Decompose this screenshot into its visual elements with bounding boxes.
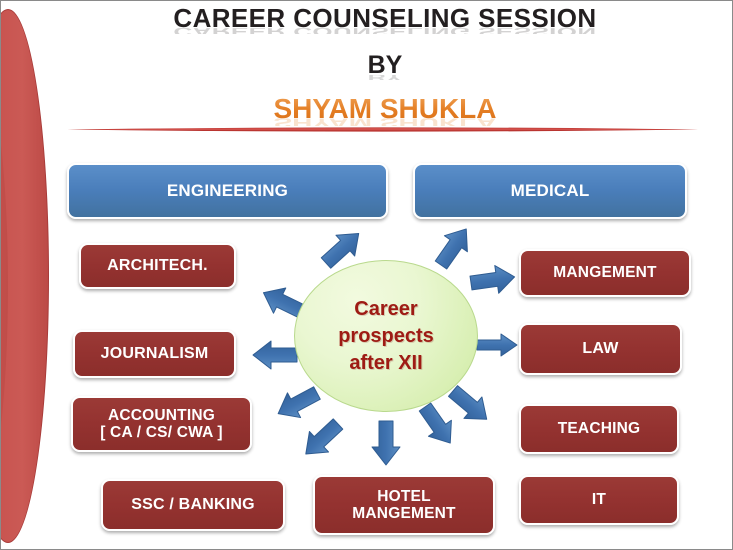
node-it[interactable]: IT: [519, 475, 679, 525]
node-hotel-label-line1: HOTEL: [352, 488, 455, 505]
slide-canvas: CAREER COUNSELING SESSION CAREER COUNSEL…: [0, 0, 733, 550]
node-journalism[interactable]: JOURNALISM: [73, 330, 236, 378]
node-ssc-banking[interactable]: SSC / BANKING: [101, 479, 285, 531]
node-law-label: LAW: [582, 340, 618, 358]
arrow-to-mangement: [469, 263, 516, 297]
title-divider: [67, 125, 699, 134]
node-teaching[interactable]: TEACHING: [519, 404, 679, 454]
center-line-1: Career: [354, 296, 417, 323]
node-medical[interactable]: MEDICAL: [413, 163, 687, 219]
node-law[interactable]: LAW: [519, 323, 682, 375]
center-line-3: after XII: [349, 350, 422, 377]
node-accounting[interactable]: ACCOUNTING [ CA / CS/ CWA ]: [71, 396, 252, 452]
node-architech[interactable]: ARCHITECH.: [79, 243, 236, 289]
node-it-label: IT: [592, 491, 606, 508]
node-accounting-text: ACCOUNTING [ CA / CS/ CWA ]: [100, 407, 223, 442]
node-architech-label: ARCHITECH.: [107, 257, 208, 275]
arrow-to-hotel-mangement: [372, 421, 400, 465]
node-mangement[interactable]: MANGEMENT: [519, 249, 691, 297]
arrow-to-accounting: [272, 381, 324, 426]
center-line-2: prospects: [338, 323, 434, 350]
node-ssc-banking-label: SSC / BANKING: [131, 496, 255, 514]
node-accounting-label-line1: ACCOUNTING: [100, 407, 223, 424]
node-journalism-label: JOURNALISM: [101, 345, 209, 363]
node-hotel-text: HOTEL MANGEMENT: [352, 488, 455, 523]
left-decorative-blade: [0, 9, 49, 543]
node-hotel-label-line2: MANGEMENT: [352, 505, 455, 522]
center-topic-circle[interactable]: Career prospects after XII: [294, 260, 478, 412]
arrow-to-ssc-banking: [296, 414, 347, 464]
arrow-to-it: [414, 399, 462, 451]
node-accounting-label-line2: [ CA / CS/ CWA ]: [100, 424, 223, 441]
title-by-label-reflection: BY: [61, 75, 709, 80]
node-mangement-label: MANGEMENT: [553, 264, 656, 281]
page-title-reflection: CAREER COUNSELING SESSION: [61, 28, 709, 34]
node-hotel-mangement[interactable]: HOTEL MANGEMENT: [313, 475, 495, 535]
node-engineering[interactable]: ENGINEERING: [67, 163, 388, 219]
node-medical-label: MEDICAL: [511, 181, 590, 200]
arrow-to-journalism: [253, 341, 297, 369]
node-engineering-label: ENGINEERING: [167, 181, 288, 200]
arrow-to-medical: [430, 221, 478, 273]
title-block: CAREER COUNSELING SESSION CAREER COUNSEL…: [61, 3, 709, 141]
node-teaching-label: TEACHING: [558, 420, 641, 437]
arrow-to-law: [477, 334, 517, 356]
left-decorative-blade-highlight: [0, 24, 8, 546]
